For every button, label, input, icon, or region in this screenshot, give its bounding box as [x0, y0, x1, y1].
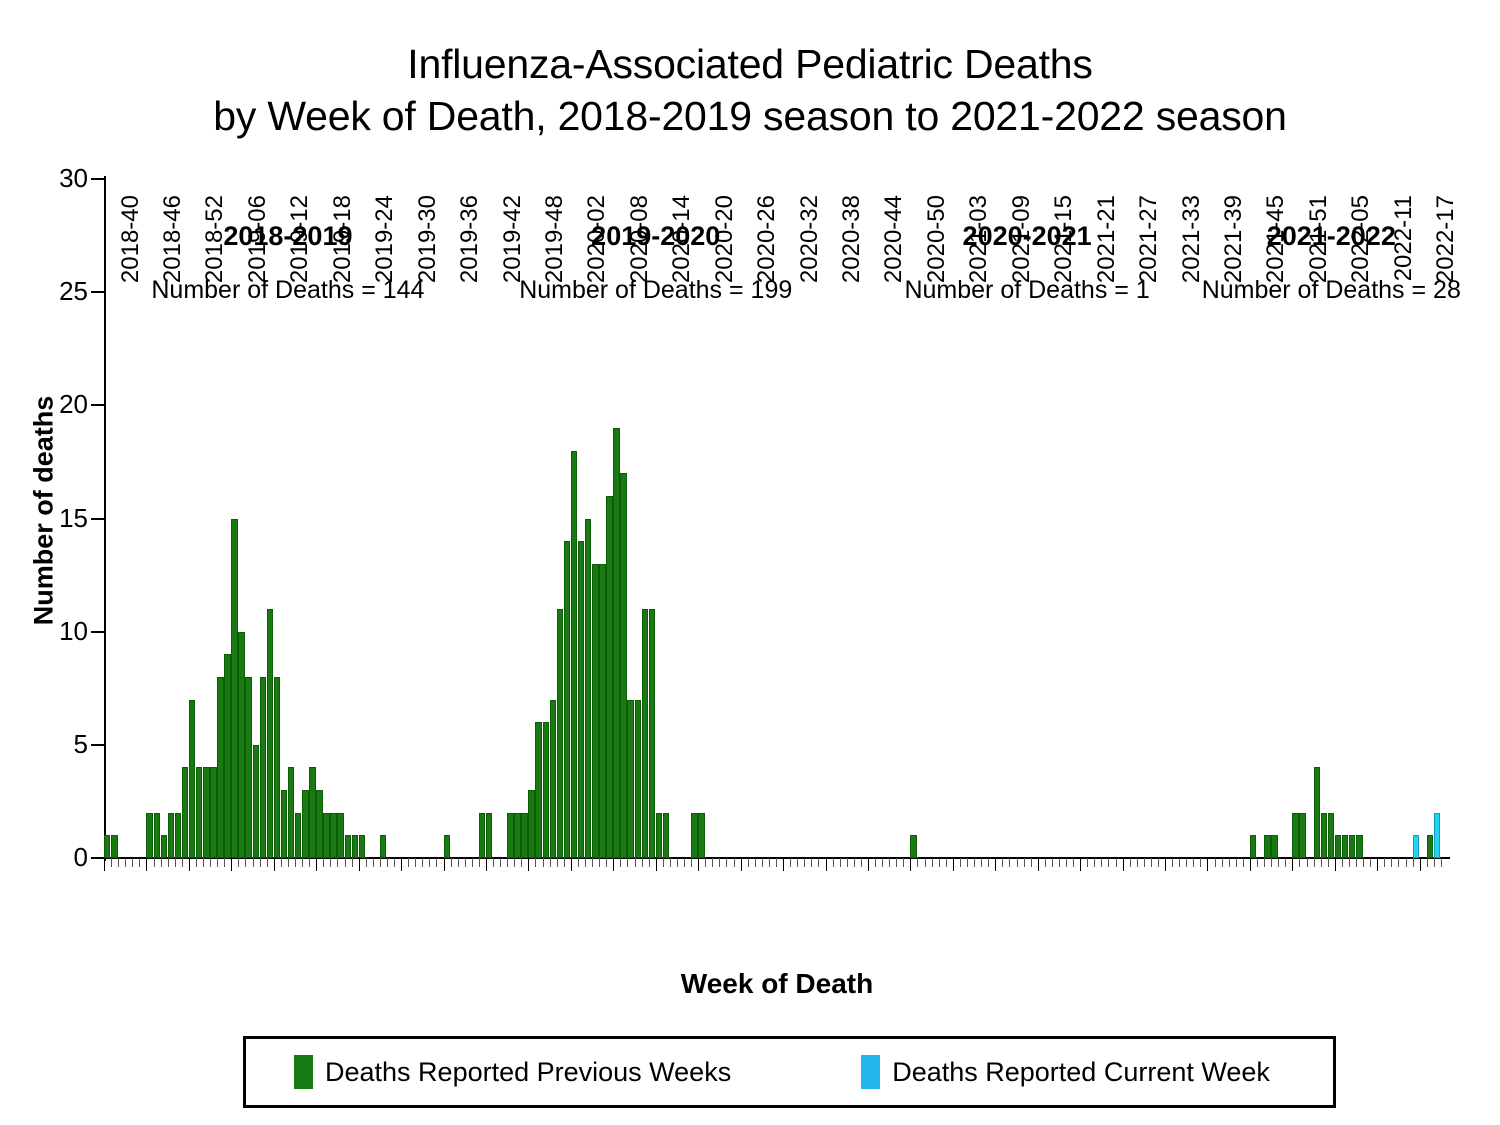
bar-previous-weeks: [231, 519, 237, 859]
x-tick: [903, 858, 904, 867]
bar-previous-weeks: [168, 813, 174, 858]
x-tick: [1257, 858, 1258, 867]
bar-previous-weeks: [1321, 813, 1327, 858]
bar-previous-weeks: [1271, 835, 1277, 858]
x-tick: [1406, 858, 1407, 867]
y-tick-label: 0: [26, 844, 88, 870]
x-tick: [1094, 858, 1095, 867]
x-tick: [217, 858, 218, 867]
bar-previous-weeks: [352, 835, 358, 858]
x-tick: [238, 858, 239, 867]
y-tick: [91, 631, 104, 633]
x-tick: [981, 858, 982, 867]
y-tick: [91, 178, 104, 180]
x-tick: [896, 858, 897, 867]
bar-previous-weeks: [521, 813, 527, 858]
x-tick: [847, 858, 848, 867]
x-tick: [479, 858, 480, 867]
x-tick: [868, 858, 869, 871]
x-tick: [118, 858, 119, 867]
bar-previous-weeks: [245, 677, 251, 858]
x-tick: [415, 858, 416, 867]
y-tick: [91, 857, 104, 859]
x-tick: [182, 858, 183, 867]
x-tick: [111, 858, 112, 867]
y-tick-label: 20: [26, 391, 88, 417]
x-tick: [154, 858, 155, 867]
bar-previous-weeks: [182, 767, 188, 858]
x-tick: [493, 858, 494, 867]
x-tick: [514, 858, 515, 867]
x-tick: [458, 858, 459, 867]
x-tick: [840, 858, 841, 867]
x-tick: [1222, 858, 1223, 867]
x-tick: [422, 858, 423, 867]
x-tick: [627, 858, 628, 867]
x-tick: [585, 858, 586, 867]
x-tick: [380, 858, 381, 867]
x-tick: [1002, 858, 1003, 867]
x-tick: [967, 858, 968, 867]
x-tick: [1158, 858, 1159, 867]
x-tick: [125, 858, 126, 867]
x-tick: [1321, 858, 1322, 867]
bar-previous-weeks: [656, 813, 662, 858]
bar-previous-weeks: [1349, 835, 1355, 858]
legend-swatch-previous-icon: [294, 1055, 313, 1089]
bar-previous-weeks: [267, 609, 273, 858]
bar-previous-weeks: [564, 541, 570, 858]
x-tick: [946, 858, 947, 867]
x-tick: [988, 858, 989, 867]
bar-previous-weeks: [535, 722, 541, 858]
season-death-count: Number of Deaths = 144: [88, 276, 488, 305]
bar-previous-weeks: [627, 700, 633, 858]
x-tick: [1215, 858, 1216, 867]
x-tick: [734, 858, 735, 867]
x-tick: [1116, 858, 1117, 867]
x-tick: [932, 858, 933, 867]
bar-previous-weeks: [224, 654, 230, 858]
bar-previous-weeks: [1335, 835, 1341, 858]
bar-previous-weeks: [479, 813, 485, 858]
x-tick: [1066, 858, 1067, 867]
x-tick: [1342, 858, 1343, 867]
bar-previous-weeks: [210, 767, 216, 858]
season-annotation: 2018-2019Number of Deaths = 144: [88, 221, 488, 305]
x-tick: [168, 858, 169, 867]
bar-previous-weeks: [154, 813, 160, 858]
x-tick: [224, 858, 225, 867]
bar-previous-weeks: [1328, 813, 1334, 858]
x-tick: [769, 858, 770, 867]
x-tick: [818, 858, 819, 867]
bar-previous-weeks: [316, 790, 322, 858]
bar-previous-weeks: [323, 813, 329, 858]
x-tick: [295, 858, 296, 867]
x-tick: [1349, 858, 1350, 867]
x-tick: [1165, 858, 1166, 871]
x-tick: [712, 858, 713, 867]
x-tick: [578, 858, 579, 867]
x-tick: [670, 858, 671, 867]
y-tick-label: 25: [26, 278, 88, 304]
x-axis-title: Week of Death: [104, 968, 1450, 1000]
bar-previous-weeks: [635, 700, 641, 858]
x-tick: [592, 858, 593, 867]
chart-title-line-1: Influenza-Associated Pediatric Deaths: [407, 41, 1092, 87]
bar-previous-weeks: [288, 767, 294, 858]
x-tick: [557, 858, 558, 867]
bar-previous-weeks: [1250, 835, 1256, 858]
x-tick: [1441, 858, 1442, 867]
x-tick: [1356, 858, 1357, 867]
y-tick: [91, 404, 104, 406]
bar-previous-weeks: [578, 541, 584, 858]
bar-previous-weeks: [592, 564, 598, 858]
bar-previous-weeks: [444, 835, 450, 858]
x-tick: [521, 858, 522, 867]
bar-previous-weeks: [238, 632, 244, 858]
x-tick: [260, 858, 261, 867]
bar-previous-weeks: [337, 813, 343, 858]
bar-previous-weeks: [486, 813, 492, 858]
bar-previous-weeks: [146, 813, 152, 858]
x-tick: [635, 858, 636, 867]
x-tick: [691, 858, 692, 867]
y-tick-label: 10: [26, 618, 88, 644]
x-tick: [960, 858, 961, 867]
bar-previous-weeks: [380, 835, 386, 858]
x-tick: [337, 858, 338, 867]
bar-previous-weeks: [543, 722, 549, 858]
x-tick: [1200, 858, 1201, 867]
x-tick: [161, 858, 162, 867]
bar-previous-weeks: [585, 519, 591, 859]
x-tick: [1038, 858, 1039, 871]
bar-current-week: [1434, 813, 1440, 858]
x-tick: [719, 858, 720, 867]
bar-previous-weeks: [557, 609, 563, 858]
x-tick: [755, 858, 756, 867]
bar-previous-weeks: [1299, 813, 1305, 858]
x-tick: [1299, 858, 1300, 867]
x-tick: [429, 858, 430, 867]
x-tick: [1384, 858, 1385, 867]
bar-current-week: [1413, 835, 1419, 858]
x-tick: [1278, 858, 1279, 867]
x-tick: [465, 858, 466, 867]
x-tick: [939, 858, 940, 867]
x-tick: [1179, 858, 1180, 867]
x-tick: [387, 858, 388, 867]
x-tick: [345, 858, 346, 867]
x-tick: [875, 858, 876, 867]
x-tick: [281, 858, 282, 867]
bar-previous-weeks: [1264, 835, 1270, 858]
x-tick: [783, 858, 784, 871]
x-tick: [330, 858, 331, 867]
x-tick: [1059, 858, 1060, 867]
bar-previous-weeks: [260, 677, 266, 858]
x-tick: [543, 858, 544, 867]
x-tick: [882, 858, 883, 867]
season-name: 2018-2019: [88, 221, 488, 252]
bar-previous-weeks: [606, 496, 612, 858]
x-tick: [394, 858, 395, 867]
x-tick: [1363, 858, 1364, 867]
x-tick: [1271, 858, 1272, 867]
x-tick: [1073, 858, 1074, 867]
x-tick: [175, 858, 176, 867]
x-tick: [359, 858, 360, 871]
bar-previous-weeks: [550, 700, 556, 858]
x-tick: [917, 858, 918, 867]
bar-previous-weeks: [309, 767, 315, 858]
x-tick: [656, 858, 657, 871]
bar-previous-weeks: [203, 767, 209, 858]
x-tick: [726, 858, 727, 867]
x-tick: [804, 858, 805, 867]
x-tick: [1307, 858, 1308, 867]
season-name: 2021-2022: [1131, 221, 1500, 252]
x-tick: [1314, 858, 1315, 867]
chart-title-line-2: by Week of Death, 2018-2019 season to 20…: [0, 90, 1500, 142]
legend-swatch-current-icon: [861, 1055, 880, 1089]
bar-previous-weeks: [571, 451, 577, 858]
bar-previous-weeks: [189, 700, 195, 858]
x-tick: [1024, 858, 1025, 867]
bar-previous-weeks: [217, 677, 223, 858]
x-tick: [1420, 858, 1421, 871]
x-tick: [323, 858, 324, 867]
x-tick: [1080, 858, 1081, 871]
x-tick: [826, 858, 827, 871]
plot-area: 051015202530 2018-402018-462018-522019-0…: [104, 179, 1448, 858]
x-tick: [1328, 858, 1329, 867]
x-tick: [748, 858, 749, 867]
y-tick: [91, 744, 104, 746]
x-tick: [889, 858, 890, 867]
y-tick-label: 30: [26, 165, 88, 191]
x-tick: [606, 858, 607, 867]
bar-previous-weeks: [104, 835, 110, 858]
x-tick: [925, 858, 926, 867]
bar-previous-weeks: [175, 813, 181, 858]
x-tick: [550, 858, 551, 867]
x-tick: [1101, 858, 1102, 867]
x-tick: [267, 858, 268, 867]
x-tick: [705, 858, 706, 867]
x-tick: [302, 858, 303, 867]
x-tick: [1123, 858, 1124, 871]
bar-previous-weeks: [649, 609, 655, 858]
x-tick: [677, 858, 678, 867]
x-tick: [1186, 858, 1187, 867]
x-tick: [288, 858, 289, 867]
bar-previous-weeks: [161, 835, 167, 858]
x-tick: [1391, 858, 1392, 867]
x-tick: [1236, 858, 1237, 867]
bar-previous-weeks: [295, 813, 301, 858]
x-tick: [1017, 858, 1018, 867]
x-tick: [620, 858, 621, 867]
season-annotation: 2019-2020Number of Deaths = 199: [456, 221, 856, 305]
x-tick: [1172, 858, 1173, 867]
legend-label-previous: Deaths Reported Previous Weeks: [325, 1057, 731, 1088]
x-tick: [811, 858, 812, 867]
bar-previous-weeks: [281, 790, 287, 858]
bar-previous-weeks: [1427, 835, 1433, 858]
x-tick: [104, 858, 105, 871]
x-tick: [1335, 858, 1336, 871]
x-tick: [1207, 858, 1208, 871]
x-tick: [790, 858, 791, 867]
bar-previous-weeks: [620, 473, 626, 858]
y-tick-label: 15: [26, 505, 88, 531]
x-tick: [571, 858, 572, 871]
x-tick: [401, 858, 402, 871]
bar-previous-weeks: [1356, 835, 1362, 858]
x-tick: [1151, 858, 1152, 867]
chart-title: Influenza-Associated Pediatric Deaths by…: [0, 38, 1500, 143]
x-tick: [231, 858, 232, 871]
x-tick: [762, 858, 763, 867]
y-tick-label: 5: [26, 731, 88, 757]
x-tick: [649, 858, 650, 867]
bar-previous-weeks: [330, 813, 336, 858]
x-tick: [776, 858, 777, 867]
x-tick: [436, 858, 437, 867]
bar-previous-weeks: [253, 745, 259, 858]
x-tick: [861, 858, 862, 867]
x-tick: [373, 858, 374, 867]
x-tick: [1243, 858, 1244, 867]
x-tick: [698, 858, 699, 871]
x-tick: [316, 858, 317, 871]
bar-previous-weeks: [663, 813, 669, 858]
x-tick: [953, 858, 954, 871]
bar-previous-weeks: [302, 790, 308, 858]
x-tick: [366, 858, 367, 867]
x-tick: [1377, 858, 1378, 871]
bar-previous-weeks: [359, 835, 365, 858]
x-tick: [1398, 858, 1399, 867]
x-tick: [189, 858, 190, 871]
bar-previous-weeks: [528, 790, 534, 858]
bar-previous-weeks: [111, 835, 117, 858]
bar-previous-weeks: [345, 835, 351, 858]
bar-previous-weeks: [698, 813, 704, 858]
x-tick: [274, 858, 275, 871]
x-tick: [741, 858, 742, 871]
x-tick: [995, 858, 996, 871]
x-tick: [613, 858, 614, 871]
chart-figure: Influenza-Associated Pediatric Deaths by…: [0, 0, 1500, 1125]
x-tick: [1250, 858, 1251, 871]
bar-previous-weeks: [599, 564, 605, 858]
bar-previous-weeks: [642, 609, 648, 858]
x-tick: [1087, 858, 1088, 867]
bar-previous-weeks: [1342, 835, 1348, 858]
bar-previous-weeks: [613, 428, 619, 858]
bar-previous-weeks: [1314, 767, 1320, 858]
x-tick: [974, 858, 975, 867]
x-tick: [507, 858, 508, 867]
x-tick: [854, 858, 855, 867]
season-annotation: 2021-2022Number of Deaths = 28: [1131, 221, 1500, 305]
x-tick: [642, 858, 643, 867]
x-tick: [1229, 858, 1230, 867]
x-tick: [132, 858, 133, 867]
x-tick: [564, 858, 565, 867]
x-tick: [1264, 858, 1265, 867]
x-tick: [535, 858, 536, 867]
season-death-count: Number of Deaths = 28: [1131, 276, 1500, 305]
x-tick: [451, 858, 452, 867]
x-tick: [210, 858, 211, 867]
x-tick: [1031, 858, 1032, 867]
season-death-count: Number of Deaths = 199: [456, 276, 856, 305]
x-tick: [408, 858, 409, 867]
x-tick: [663, 858, 664, 867]
x-tick: [1413, 858, 1414, 867]
x-tick: [139, 858, 140, 867]
x-tick: [1434, 858, 1435, 867]
x-tick: [196, 858, 197, 867]
bar-previous-weeks: [514, 813, 520, 858]
x-tick: [146, 858, 147, 871]
x-tick: [500, 858, 501, 867]
x-tick: [1108, 858, 1109, 867]
x-tick: [1193, 858, 1194, 867]
legend-item-current-week: Deaths Reported Current Week: [861, 1055, 1270, 1089]
bar-previous-weeks: [910, 835, 916, 858]
x-tick: [910, 858, 911, 871]
x-tick: [203, 858, 204, 867]
y-tick: [91, 518, 104, 520]
x-tick: [1370, 858, 1371, 867]
chart-legend: Deaths Reported Previous Weeks Deaths Re…: [243, 1036, 1336, 1108]
x-tick: [1292, 858, 1293, 871]
x-tick: [1052, 858, 1053, 867]
x-tick: [1130, 858, 1131, 867]
bar-previous-weeks: [274, 677, 280, 858]
x-tick: [1427, 858, 1428, 867]
bar-previous-weeks: [507, 813, 513, 858]
bar-previous-weeks: [196, 767, 202, 858]
x-tick: [797, 858, 798, 867]
x-tick: [472, 858, 473, 867]
x-tick: [253, 858, 254, 867]
x-tick: [486, 858, 487, 871]
x-tick: [352, 858, 353, 867]
bar-previous-weeks: [1292, 813, 1298, 858]
x-tick: [1285, 858, 1286, 867]
legend-label-current: Deaths Reported Current Week: [892, 1057, 1270, 1088]
x-tick: [528, 858, 529, 871]
x-tick: [599, 858, 600, 867]
x-tick: [444, 858, 445, 871]
x-tick: [245, 858, 246, 867]
x-tick: [1137, 858, 1138, 867]
x-tick: [833, 858, 834, 867]
x-tick: [1144, 858, 1145, 867]
x-tick: [684, 858, 685, 867]
legend-item-previous-weeks: Deaths Reported Previous Weeks: [294, 1055, 731, 1089]
x-tick: [309, 858, 310, 867]
x-tick: [1045, 858, 1046, 867]
